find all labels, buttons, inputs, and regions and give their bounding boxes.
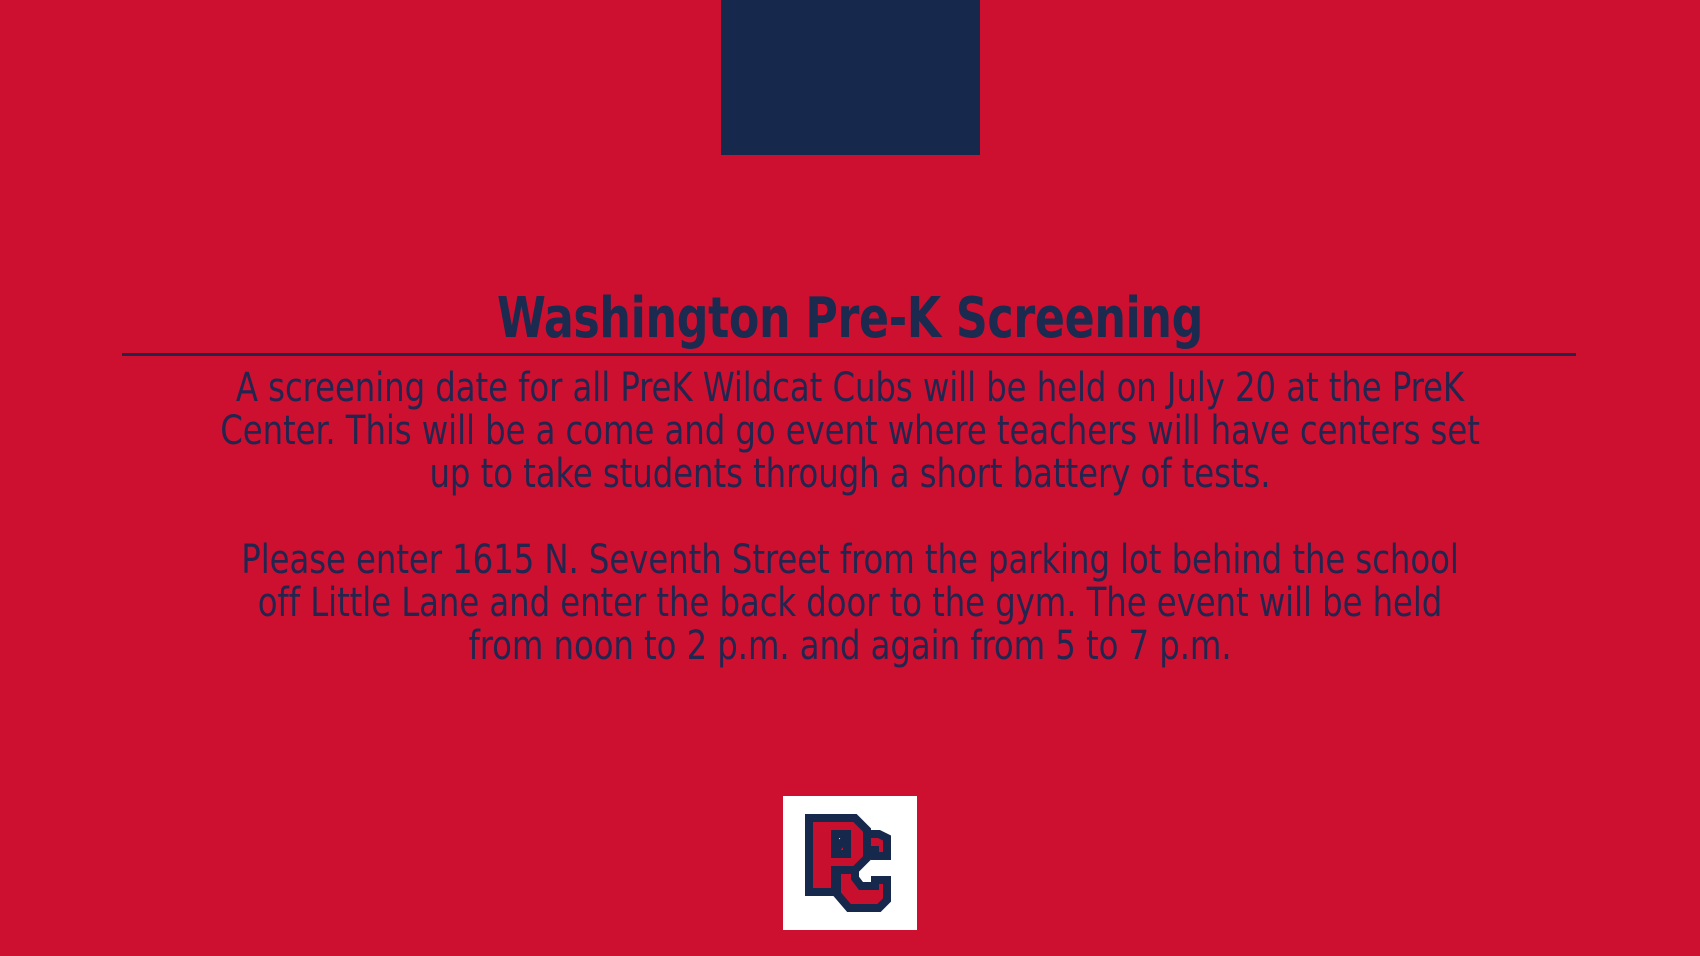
page-title: Washington Pre-K Screening	[102, 286, 1598, 352]
body-copy: A screening date for all PreK Wildcat Cu…	[105, 367, 1595, 668]
announcement-poster: Washington Pre-K Screening A screening d…	[0, 0, 1700, 956]
paragraph-2: Please enter 1615 N. Seventh Street from…	[105, 539, 1595, 668]
pc-monogram-logo	[783, 796, 917, 930]
paragraph-2-line-1: Please enter 1615 N. Seventh Street from…	[180, 539, 1521, 582]
pc-monogram-icon	[783, 796, 917, 930]
paragraph-1: A screening date for all PreK Wildcat Cu…	[105, 367, 1595, 496]
navy-banner-block	[721, 0, 980, 155]
paragraph-1-line-3: up to take students through a short batt…	[180, 453, 1521, 496]
paragraph-2-line-2: off Little Lane and enter the back door …	[180, 582, 1521, 625]
paragraph-1-line-2: Center. This will be a come and go event…	[180, 410, 1521, 453]
paragraph-2-line-3: from noon to 2 p.m. and again from 5 to …	[180, 625, 1521, 668]
title-divider-rule	[122, 353, 1576, 356]
paragraph-spacer	[105, 496, 1595, 539]
paragraph-1-line-1: A screening date for all PreK Wildcat Cu…	[180, 367, 1521, 410]
